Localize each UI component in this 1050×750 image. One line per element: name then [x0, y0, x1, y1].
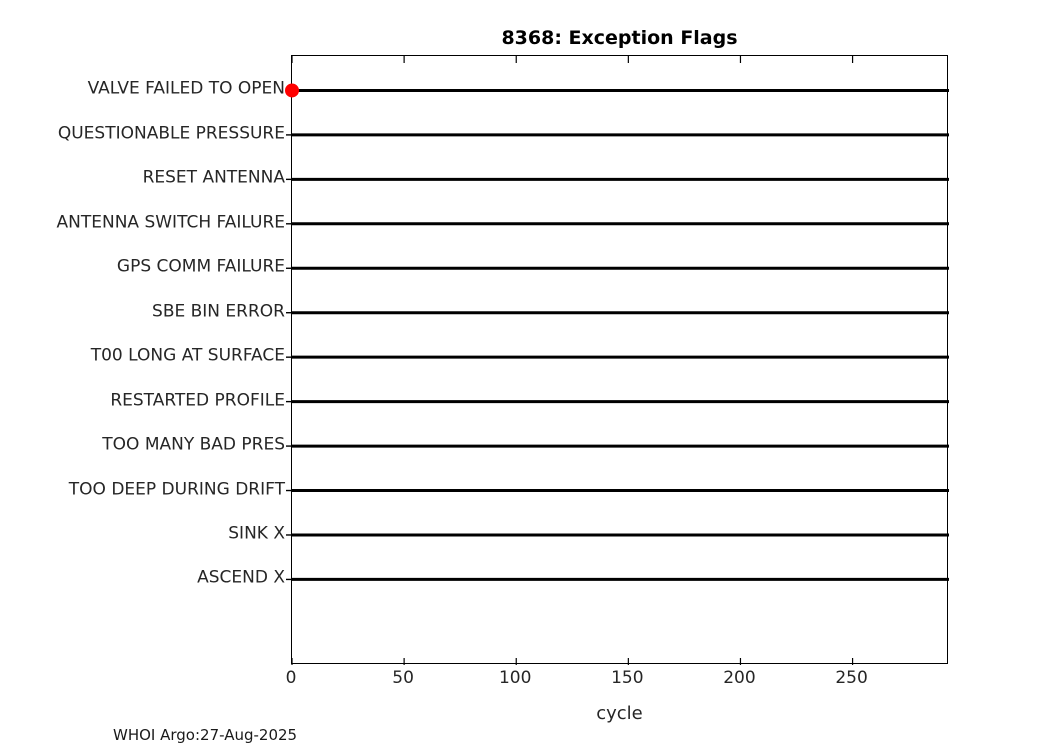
y-tick-label-5: SBE BIN ERROR — [0, 303, 285, 320]
y-tick-label-3: ANTENNA SWITCH FAILURE — [0, 214, 285, 231]
plot-area — [291, 55, 948, 664]
exception-flags-figure: 8368: Exception Flags VALVE FAILED TO OP… — [0, 0, 1050, 750]
y-tick-label-1: QUESTIONABLE PRESSURE — [0, 125, 285, 142]
y-tick-label-10: SINK X — [0, 525, 285, 542]
x-tick-label-3: 150 — [611, 670, 643, 687]
x-tick-label-0: 0 — [286, 670, 297, 687]
x-tick-label-4: 200 — [723, 670, 755, 687]
y-tick-label-7: RESTARTED PROFILE — [0, 392, 285, 409]
x-axis-label: cycle — [291, 703, 948, 724]
x-tick-label-5: 250 — [835, 670, 867, 687]
y-tick-label-11: ASCEND X — [0, 570, 285, 587]
red-dot-icon — [286, 84, 299, 97]
y-tick-label-2: RESET ANTENNA — [0, 170, 285, 187]
x-tick-label-1: 50 — [392, 670, 414, 687]
x-tick-label-2: 100 — [499, 670, 531, 687]
y-tick-label-9: TOO DEEP DURING DRIFT — [0, 481, 285, 498]
data-markers — [292, 56, 949, 665]
y-tick-label-0: VALVE FAILED TO OPEN — [0, 81, 285, 98]
footer-attribution: WHOI Argo:27-Aug-2025 — [113, 726, 297, 744]
y-tick-label-4: GPS COMM FAILURE — [0, 259, 285, 276]
chart-title: 8368: Exception Flags — [291, 27, 948, 49]
y-tick-label-8: TOO MANY BAD PRES — [0, 437, 285, 454]
y-tick-label-6: T00 LONG AT SURFACE — [0, 348, 285, 365]
